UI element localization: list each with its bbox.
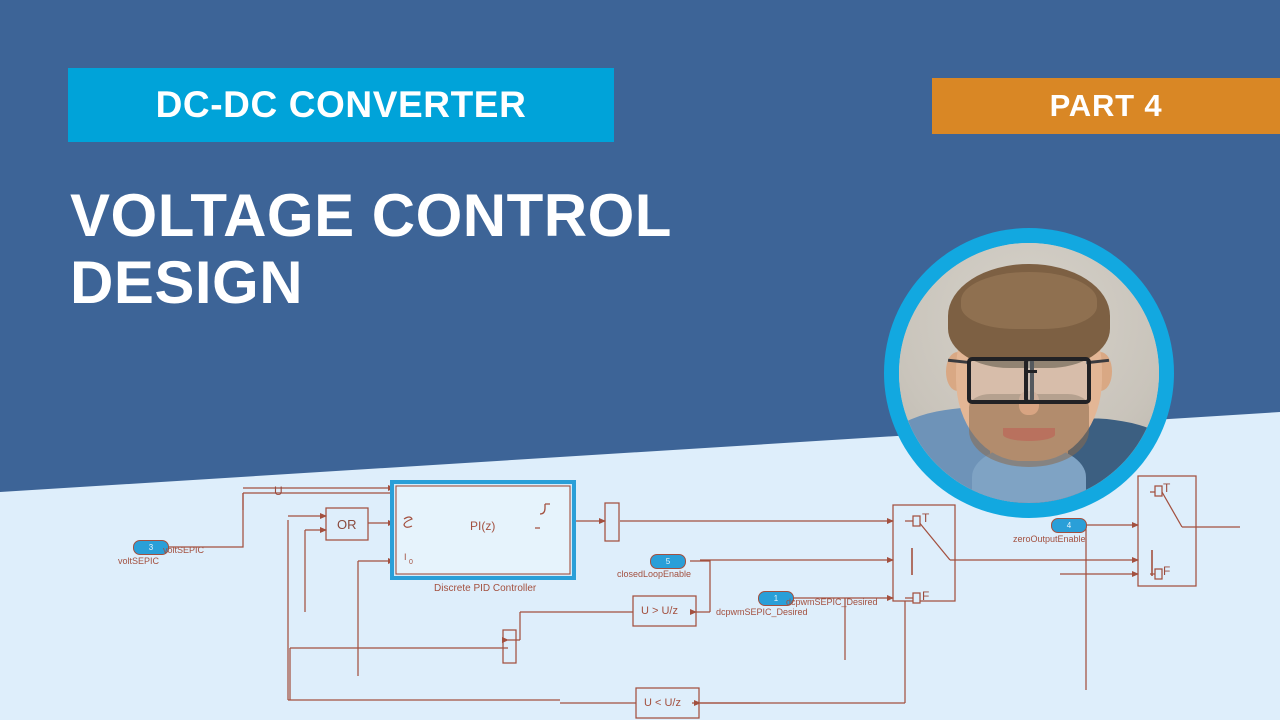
page-title-line-2: DESIGN	[70, 249, 850, 316]
compare-greater-label: U > U/z	[641, 605, 678, 617]
part-badge-label: PART 4	[1050, 88, 1163, 124]
switch-right-true-label: T	[1163, 481, 1170, 495]
port-voltsepic-caption: voltSEPIC	[118, 556, 159, 566]
page-title: VOLTAGE CONTROL DESIGN	[70, 182, 850, 316]
port-closedloopenable-caption: closedLoopEnable	[617, 569, 691, 579]
port-zerooutputenable[interactable]: 4	[1051, 518, 1087, 533]
port-voltsepic-inline-label: voltSEPIC	[163, 545, 204, 555]
presenter-avatar	[884, 228, 1174, 518]
or-gate-label: OR	[337, 517, 357, 532]
pid-transfer-label: PI(z)	[470, 519, 495, 533]
port-dcpwmsepic-desired-inline-label: dcpwmSEPIC_Desired	[786, 597, 878, 607]
avatar-mouth	[1003, 428, 1055, 441]
compare-less-label: U < U/z	[644, 697, 681, 709]
slide-canvas: 3 voltSEPIC voltSEPIC U OR PI(z) Discret…	[0, 0, 1280, 720]
avatar-image	[899, 243, 1159, 503]
pid-controller-caption: Discrete PID Controller	[434, 583, 536, 594]
pid-input-i0-label: I	[404, 552, 407, 562]
avatar-glasses-lens-right	[1024, 357, 1092, 404]
port-dcpwmsepic-desired-caption: dcpwmSEPIC_Desired	[716, 607, 808, 617]
signal-label-u: U	[274, 484, 283, 498]
switch-right-false-label: F	[1163, 564, 1170, 578]
series-badge-label: DC-DC CONVERTER	[156, 84, 527, 126]
diagram-wires	[168, 476, 1240, 718]
part-badge: PART 4	[932, 78, 1280, 134]
avatar-glasses-bridge	[1024, 370, 1037, 373]
avatar-hair-highlight	[961, 272, 1096, 329]
series-badge: DC-DC CONVERTER	[68, 68, 614, 142]
switch-upper-true-label: T	[922, 511, 929, 525]
switch-upper-false-label: F	[922, 589, 929, 603]
port-zerooutputenable-caption: zeroOutputEnable	[1013, 534, 1086, 544]
port-closedloopenable[interactable]: 5	[650, 554, 686, 569]
pid-input-i0-subscript: 0	[409, 559, 413, 566]
page-title-line-1: VOLTAGE CONTROL	[70, 182, 672, 249]
